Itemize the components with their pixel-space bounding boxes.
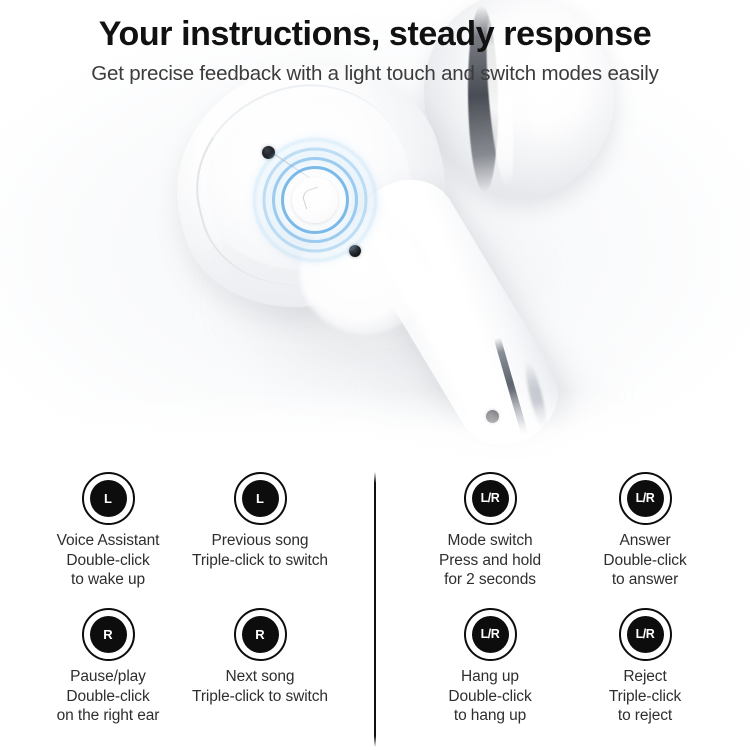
control-item-next-song[interactable]: R Next song Triple-click to switch [170,608,350,706]
badge-both-earbuds-icon: L/R [619,608,672,661]
control-item-reject[interactable]: L/R Reject Triple-click to reject [555,608,735,726]
control-caption: Reject Triple-click to reject [555,667,735,726]
page-title: Your instructions, steady response [0,12,750,56]
control-caption: Previous song Triple-click to switch [170,531,350,570]
badge-right-earbud-icon: R [82,608,135,661]
hero-bottom-fade [0,390,750,470]
badge-label: L [90,480,127,517]
badge-both-earbuds-icon: L/R [464,472,517,525]
control-item-hang-up[interactable]: L/R Hang up Double-click to hang up [400,608,580,726]
controls-section: L Voice Assistant Double-click to wake u… [0,470,750,750]
control-item-previous-song[interactable]: L Previous song Triple-click to switch [170,472,350,570]
badge-label: L/R [627,616,664,653]
badge-left-earbud-icon: L [82,472,135,525]
badge-label: R [242,616,279,653]
badge-label: R [90,616,127,653]
badge-label: L/R [472,616,509,653]
badge-label: L [242,480,279,517]
controls-group-media: L Voice Assistant Double-click to wake u… [0,470,375,750]
badge-both-earbuds-icon: L/R [619,472,672,525]
badge-right-earbud-icon: R [234,608,287,661]
page-subtitle: Get precise feedback with a light touch … [0,60,750,88]
control-item-answer[interactable]: L/R Answer Double-click to answer [555,472,735,590]
badge-label: L/R [627,480,664,517]
badge-label: L/R [472,480,509,517]
control-item-mode-switch[interactable]: L/R Mode switch Press and hold for 2 sec… [400,472,580,590]
control-caption: Mode switch Press and hold for 2 seconds [400,531,580,590]
touch-pad-arc-mark [301,187,324,210]
page-root: Your instructions, steady response Get p… [0,0,750,750]
touch-control-pad [292,177,338,223]
control-caption: Next song Triple-click to switch [170,667,350,706]
controls-group-calls: L/R Mode switch Press and hold for 2 sec… [375,470,750,750]
badge-both-earbuds-icon: L/R [464,608,517,661]
badge-left-earbud-icon: L [234,472,287,525]
control-caption: Hang up Double-click to hang up [400,667,580,726]
control-caption: Answer Double-click to answer [555,531,735,590]
